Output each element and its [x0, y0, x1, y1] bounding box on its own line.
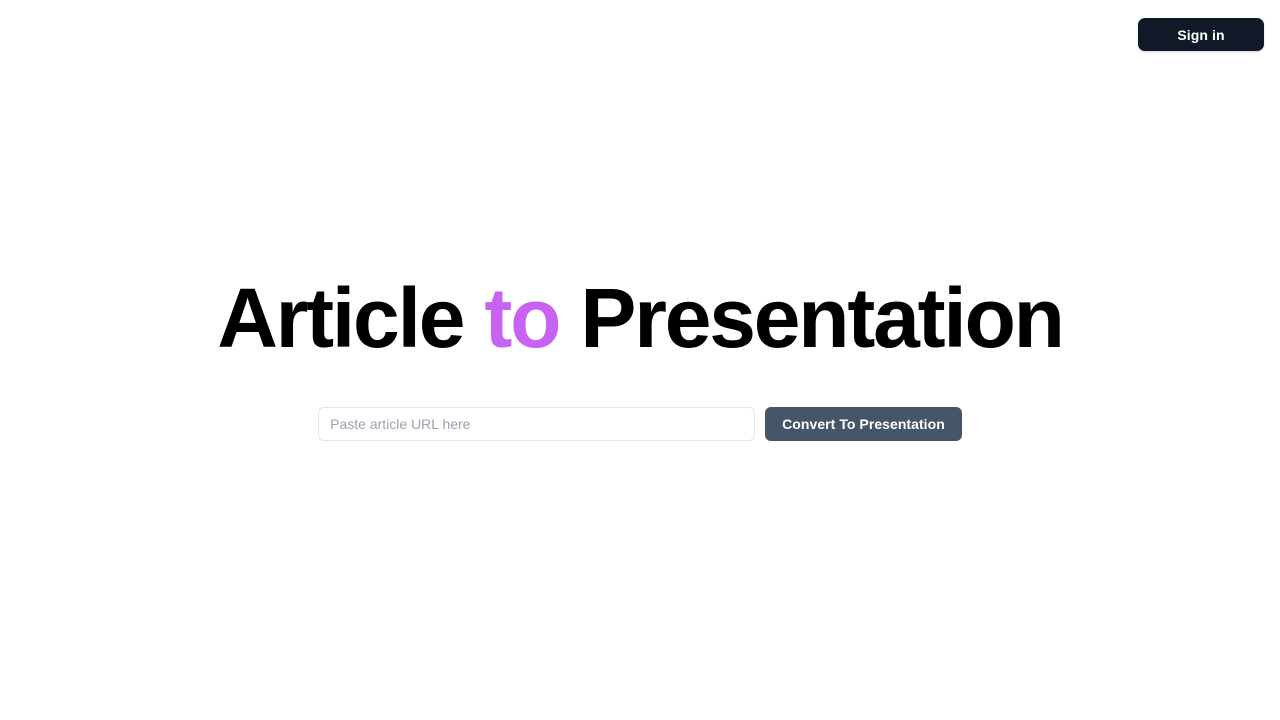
convert-form: Convert To Presentation [0, 407, 1280, 441]
hero-section: Article to Presentation Convert To Prese… [0, 0, 1280, 720]
convert-to-presentation-button[interactable]: Convert To Presentation [765, 407, 962, 441]
article-url-input[interactable] [318, 407, 755, 441]
page-title-part-one: Article [217, 271, 484, 365]
page-title-accent-word: to [484, 271, 559, 365]
page-title: Article to Presentation [0, 272, 1280, 364]
page-title-part-two: Presentation [559, 271, 1063, 365]
page-root: Sign in Article to Presentation Convert … [0, 0, 1280, 720]
